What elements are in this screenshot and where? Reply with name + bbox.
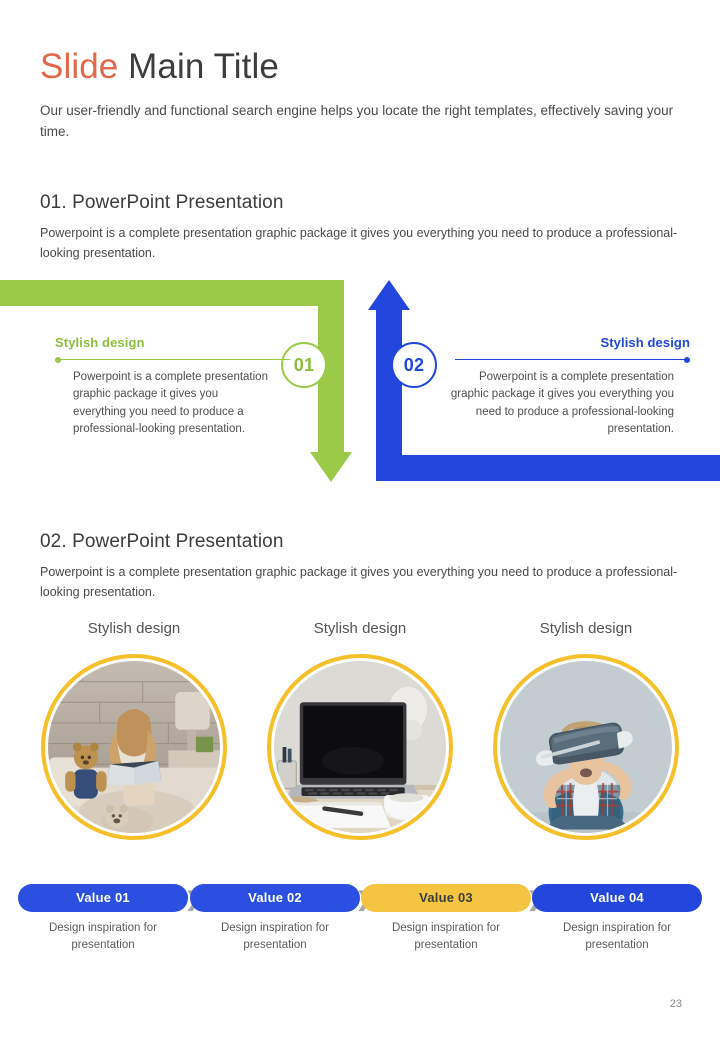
photo-card[interactable]: Stylish design [250,620,470,840]
value-pill-button[interactable]: Value 01 [18,884,188,912]
section-1-title: 01. PowerPoint Presentation [40,192,690,214]
blue-arrow-bottom-bar [376,455,720,481]
photo-ring [267,654,453,840]
section-1-heading-group: 01. PowerPoint Presentation Powerpoint i… [40,192,690,263]
page-subtitle: Our user-friendly and functional search … [40,100,680,144]
value-caption: Design inspiration for presentation [361,920,531,953]
value-step-2: Value 03 Design inspiration for presenta… [361,884,531,953]
photo-card-label: Stylish design [476,620,696,637]
value-step-0: Value 01 Design inspiration for presenta… [18,884,188,953]
laptop-on-desk-with-coffee-photo [274,661,446,833]
photo-ring [493,654,679,840]
value-caption: Design inspiration for presentation [190,920,360,953]
value-step-1: Value 02 Design inspiration for presenta… [190,884,360,953]
photo-card-label: Stylish design [250,620,470,637]
slide-header: Slide Main Title Our user-friendly and f… [40,48,690,143]
section-2-title: 02. PowerPoint Presentation [40,531,690,553]
photo-card[interactable]: Stylish design [476,620,696,840]
page-number: 23 [670,998,682,1010]
page-title: Slide Main Title [40,48,690,87]
blue-arrow-up-head-icon [368,280,410,310]
diagram-right-title: Stylish design [440,335,690,350]
step-number-badge-02: 02 [391,342,437,388]
green-arrow-down-head-icon [310,452,352,482]
value-step-3: Value 04 Design inspiration for presenta… [532,884,702,953]
diagram-text-block-right: Stylish design Powerpoint is a complete … [440,335,690,439]
photo-card-row: Stylish design [0,620,720,855]
value-pill-button[interactable]: Value 04 [532,884,702,912]
girl-reading-book-with-teddy-bears-photo [48,661,220,833]
value-caption: Design inspiration for presentation [532,920,702,953]
section-2-description: Powerpoint is a complete presentation gr… [40,562,685,602]
value-pill-button[interactable]: Value 02 [190,884,360,912]
photo-card-label: Stylish design [24,620,244,637]
diagram-text-block-left: Stylish design Powerpoint is a complete … [55,335,305,439]
diagram-left-connector-line [55,359,290,360]
diagram-right-body: Powerpoint is a complete presentation gr… [440,369,682,439]
page-title-rest: Main Title [118,47,279,86]
photo-card[interactable]: Stylish design [24,620,244,840]
diagram-left-endpoint-dot [55,357,61,363]
value-steps-row: Value 01 Design inspiration for presenta… [0,884,720,964]
value-pill-button[interactable]: Value 03 [361,884,531,912]
value-caption: Design inspiration for presentation [18,920,188,953]
diagram-left-body: Powerpoint is a complete presentation gr… [55,369,270,439]
diagram-right-endpoint-dot [684,357,690,363]
green-arrow-top-bar [0,280,318,306]
photo-ring [41,654,227,840]
slide-canvas: Slide Main Title Our user-friendly and f… [0,0,720,1040]
boy-wearing-vr-headset-photo [500,661,672,833]
page-title-accent: Slide [40,47,118,86]
diagram-left-title: Stylish design [55,335,305,350]
diagram-right-connector-line [455,359,690,360]
section-1-description: Powerpoint is a complete presentation gr… [40,223,685,263]
section-2-heading-group: 02. PowerPoint Presentation Powerpoint i… [40,531,690,602]
